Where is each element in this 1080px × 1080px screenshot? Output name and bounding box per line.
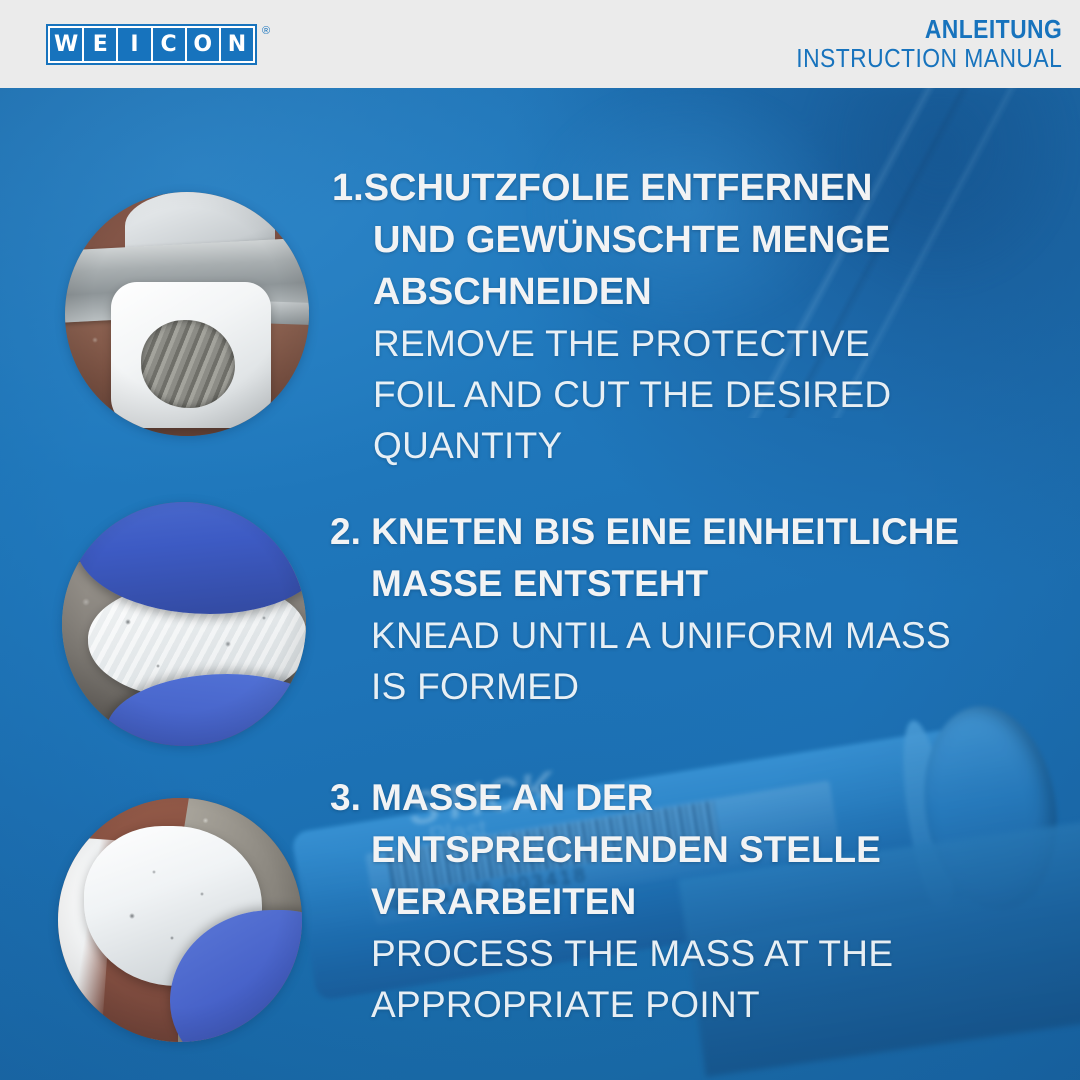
- registered-trademark-icon: ®: [262, 25, 270, 37]
- step-2-de-line-1: 2. KNETEN BIS EINE EINHEITLICHE: [330, 506, 959, 558]
- photo-applying-putty-to-brick-joint: [58, 798, 302, 1042]
- step-1-en-line-3: QUANTITY: [332, 420, 891, 471]
- logo-letter-c: C: [153, 28, 185, 61]
- step-1-text-block: 1.SCHUTZFOLIE ENTFERNEN UND GEWÜNSCHTE M…: [332, 162, 891, 471]
- photo-kneading-putty-with-gloves: [62, 502, 306, 746]
- step-3-en-line-1: PROCESS THE MASS AT THE: [330, 928, 893, 979]
- step-3-heading-en: PROCESS THE MASS AT THE APPROPRIATE POIN…: [330, 928, 893, 1030]
- logo-letter-e: E: [84, 28, 116, 61]
- instruction-manual-page: W E I C O N ® ANLEITUNG INSTRUCTION MANU…: [0, 0, 1080, 1080]
- step-2-heading-de: 2. KNETEN BIS EINE EINHEITLICHE MASSE EN…: [330, 506, 959, 610]
- header-title-group: ANLEITUNG INSTRUCTION MANUAL: [760, 16, 1062, 72]
- logo-letter-n: N: [221, 28, 253, 61]
- photo-2-vignette: [62, 502, 306, 746]
- logo-letter-o: O: [187, 28, 219, 61]
- header-title-en: INSTRUCTION MANUAL: [796, 45, 1062, 72]
- weicon-logo: W E I C O N: [46, 24, 257, 65]
- step-3-de-line-2: ENTSPRECHENDEN STELLE: [330, 824, 893, 876]
- step-2-heading-en: KNEAD UNTIL A UNIFORM MASS IS FORMED: [330, 610, 959, 712]
- step-2-text-block: 2. KNETEN BIS EINE EINHEITLICHE MASSE EN…: [330, 506, 959, 712]
- step-2-en-line-1: KNEAD UNTIL A UNIFORM MASS: [330, 610, 959, 661]
- page-header: W E I C O N ® ANLEITUNG INSTRUCTION MANU…: [0, 0, 1080, 88]
- header-title-de: ANLEITUNG: [796, 16, 1062, 43]
- step-3-heading-de: 3. MASSE AN DER ENTSPRECHENDEN STELLE VE…: [330, 772, 893, 928]
- photo-cutting-stick-with-knife: [65, 192, 309, 436]
- step-3-de-line-1: 3. MASSE AN DER: [330, 772, 893, 824]
- step-1-de-line-1: 1.SCHUTZFOLIE ENTFERNEN: [332, 162, 891, 214]
- step-1-en-line-2: FOIL AND CUT THE DESIRED: [332, 369, 891, 420]
- logo-letter-i: I: [118, 28, 150, 61]
- step-1-en-line-1: REMOVE THE PROTECTIVE: [332, 318, 891, 369]
- photo-1-vignette: [65, 192, 309, 436]
- step-3-en-line-2: APPROPRIATE POINT: [330, 979, 893, 1030]
- step-3-text-block: 3. MASSE AN DER ENTSPRECHENDEN STELLE VE…: [330, 772, 893, 1030]
- step-1-heading-de: 1.SCHUTZFOLIE ENTFERNEN UND GEWÜNSCHTE M…: [332, 162, 891, 318]
- step-2-de-line-2: MASSE ENTSTEHT: [330, 558, 959, 610]
- step-1-de-line-3: ABSCHNEIDEN: [332, 266, 891, 318]
- step-2-en-line-2: IS FORMED: [330, 661, 959, 712]
- step-1-heading-en: REMOVE THE PROTECTIVE FOIL AND CUT THE D…: [332, 318, 891, 471]
- step-1-de-line-2: UND GEWÜNSCHTE MENGE: [332, 214, 891, 266]
- logo-letter-w: W: [50, 28, 82, 61]
- step-3-de-line-3: VERARBEITEN: [330, 876, 893, 928]
- photo-3-vignette: [58, 798, 302, 1042]
